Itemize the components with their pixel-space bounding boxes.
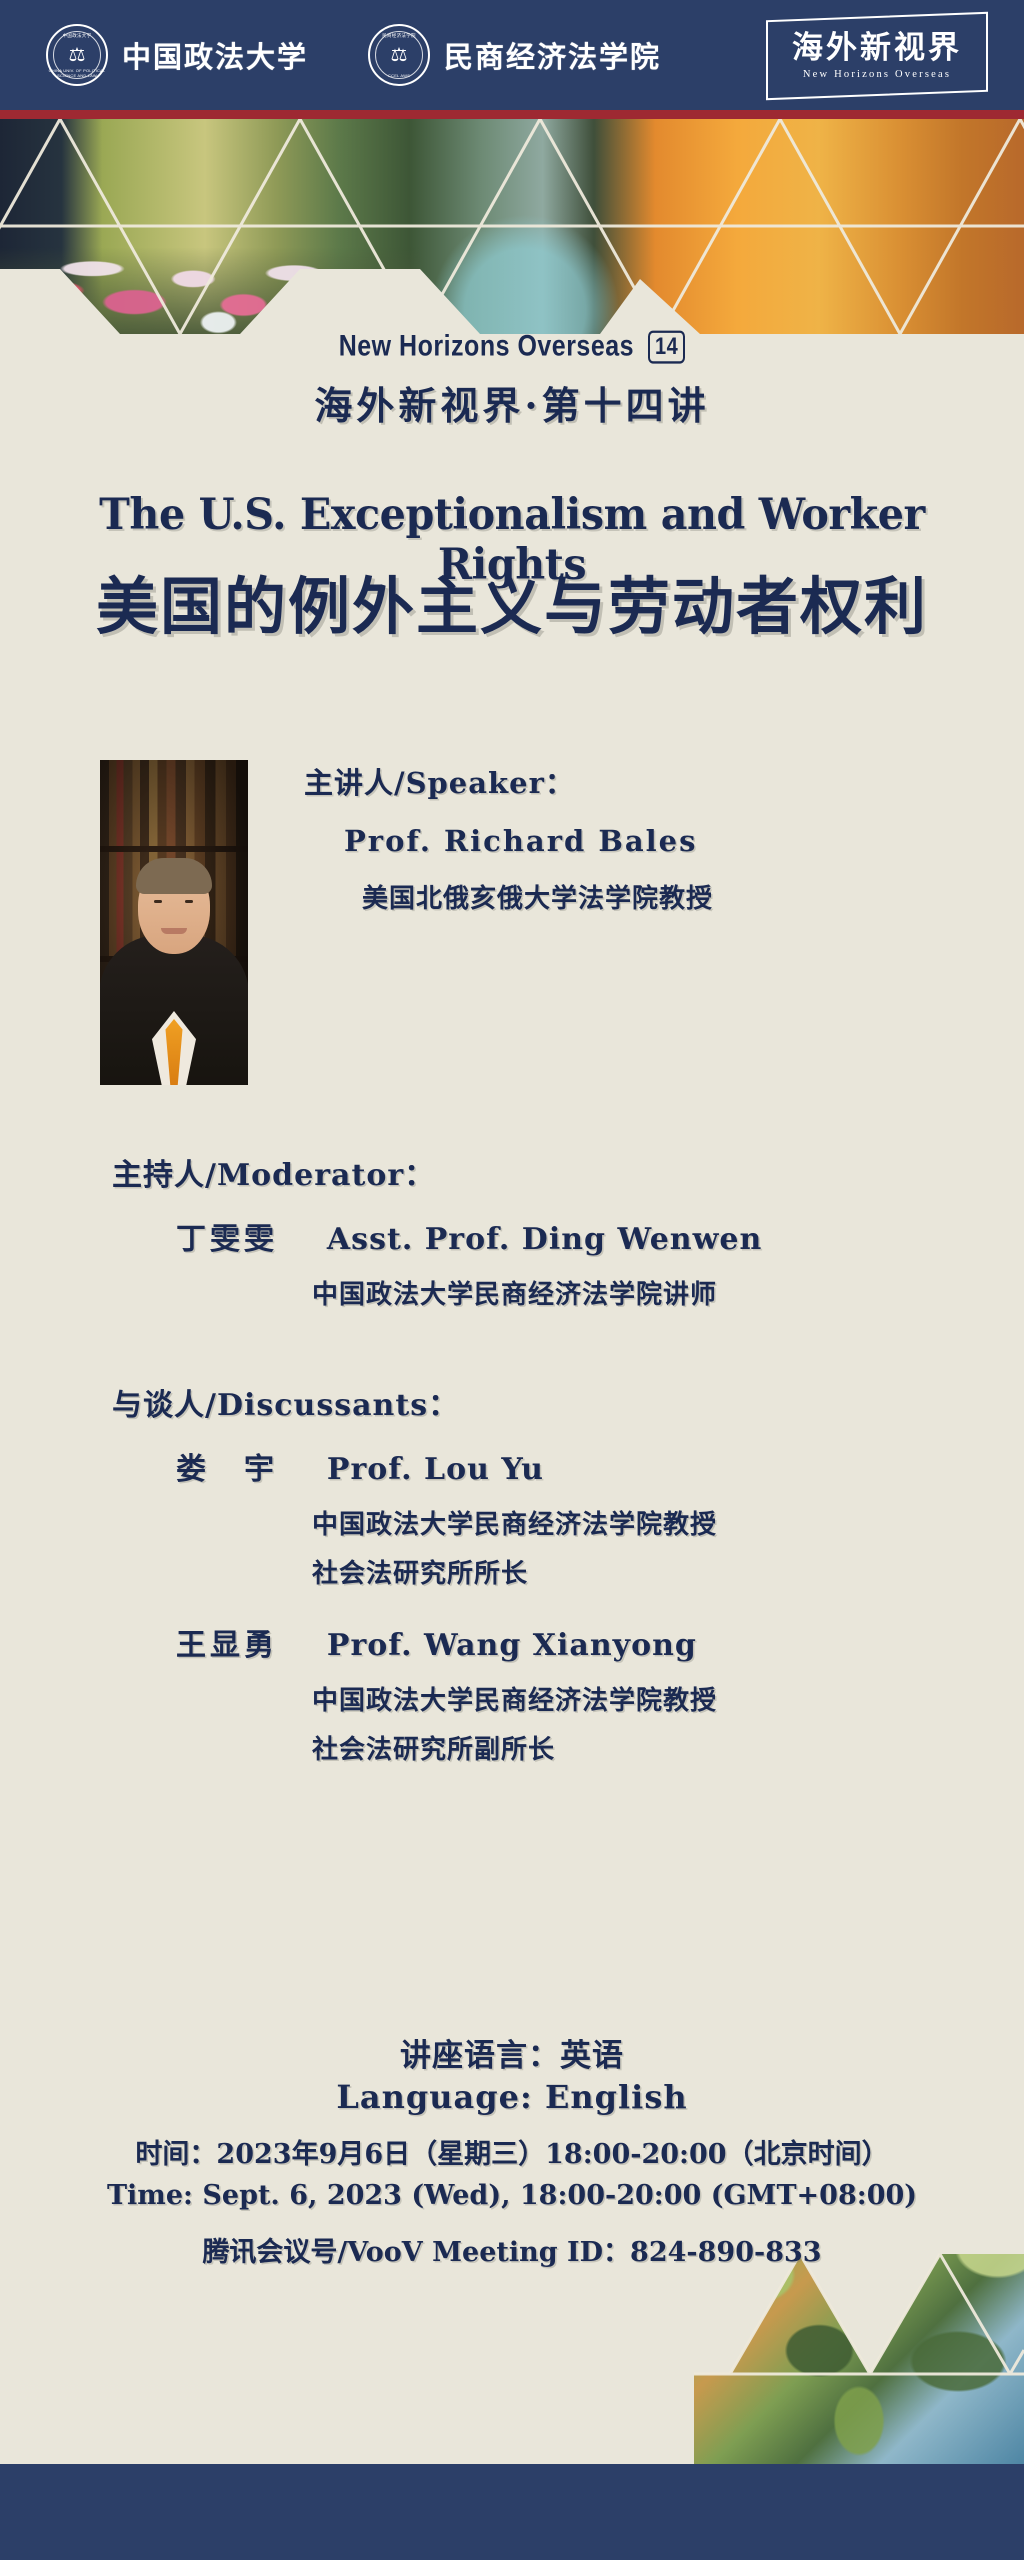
moderator-name-en: Asst. Prof. Ding Wenwen [327, 1222, 762, 1257]
speaker-photo [100, 760, 248, 1085]
discussant-2-name-en: Prof. Wang Xianyong [327, 1628, 697, 1663]
brand-name-en: New Horizons Overseas [792, 69, 962, 80]
footer-bar [0, 2464, 1024, 2560]
discussant-1-name-en: Prof. Lou Yu [327, 1452, 544, 1487]
cupl-seal-bottom-text: CHINA UNIV. OF POLITICAL SCIENCE AND LAW [48, 68, 106, 78]
discussant-1-name-row: 娄 宇 Prof. Lou Yu [0, 1444, 1024, 1488]
discussant-2-affiliation-1: 中国政法大学民商经济法学院教授 [0, 1680, 1024, 1717]
logo-ccelaws-label: 民商经济法学院 [444, 34, 661, 76]
moderator-section: 主持人/Moderator： 丁雯雯 Asst. Prof. Ding Wenw… [0, 1150, 1024, 1311]
series-heading-cn: 海外新视界·第十四讲 [0, 375, 1024, 430]
logo-ccelaws: 民商经济法学院 ⚖ CCEL AWS 民商经济法学院 [368, 24, 661, 86]
cupl-seal-icon: 中国政法大学 ⚖ CHINA UNIV. OF POLITICAL SCIENC… [46, 24, 108, 86]
poster-header: 中国政法大学 ⚖ CHINA UNIV. OF POLITICAL SCIENC… [0, 0, 1024, 110]
discussant-2-affiliation-2: 社会法研究所副所长 [0, 1729, 1024, 1766]
speaker-affiliation: 美国北俄亥俄大学法学院教授 [292, 878, 713, 915]
scales-icon: ⚖ [68, 46, 85, 65]
discussant-1-affiliation-2: 社会法研究所所长 [0, 1553, 1024, 1590]
discussant-entry-1: 娄 宇 Prof. Lou Yu 中国政法大学民商经济法学院教授 社会法研究所所… [0, 1444, 1024, 1590]
decorative-mosaic-top [0, 119, 1024, 334]
discussants-role-label: 与谈人/Discussants： [0, 1380, 1024, 1424]
header-crimson-rule [0, 110, 1024, 119]
discussants-section: 与谈人/Discussants： 娄 宇 Prof. Lou Yu 中国政法大学… [0, 1380, 1024, 1766]
discussant-2-name-cn: 王显勇 [176, 1628, 278, 1663]
moderator-name-row: 丁雯雯 Asst. Prof. Ding Wenwen [0, 1214, 1024, 1258]
speaker-mouth [161, 928, 187, 934]
speaker-eye-left [154, 900, 162, 903]
discussant-1-name-cn: 娄 宇 [176, 1452, 278, 1487]
shield-scales-icon: ⚖ [390, 46, 407, 65]
discussant-entry-2: 王显勇 Prof. Wang Xianyong 中国政法大学民商经济法学院教授 … [0, 1620, 1024, 1766]
brand-badge: 海外新视界 New Horizons Overseas [766, 12, 988, 101]
time-label-cn: 时间：2023年9月6日（星期三）18:00-20:00（北京时间） [0, 2132, 1024, 2171]
speaker-text-block: 主讲人/Speaker： Prof. Richard Bales 美国北俄亥俄大… [292, 760, 713, 915]
logo-cupl-label: 中国政法大学 [122, 34, 308, 76]
series-heading-en: New Horizons Overseas [339, 329, 634, 363]
speaker-name: Prof. Richard Bales [292, 824, 713, 858]
moderator-role-label: 主持人/Moderator： [0, 1150, 1024, 1194]
moderator-affiliation: 中国政法大学民商经济法学院讲师 [0, 1274, 1024, 1311]
time-label-en: Time: Sept. 6, 2023 (Wed), 18:00-20:00 (… [0, 2180, 1024, 2211]
ccelaws-seal-bottom-text: CCEL AWS [370, 73, 428, 78]
brand-name-cn: 海外新视界 [792, 32, 962, 65]
mosaic-top-triangle-grid [0, 119, 1024, 334]
moderator-name-cn: 丁雯雯 [176, 1222, 278, 1257]
language-label-cn: 讲座语言：英语 [0, 2030, 1024, 2075]
speaker-role-label: 主讲人/Speaker： [292, 760, 713, 802]
discussant-1-affiliation-1: 中国政法大学民商经济法学院教授 [0, 1504, 1024, 1541]
series-number-badge: 14 [648, 330, 685, 363]
discussant-2-name-row: 王显勇 Prof. Wang Xianyong [0, 1620, 1024, 1664]
series-heading-en-wrap: New Horizons Overseas 14 [339, 329, 686, 363]
language-label-en: Language: English [0, 2078, 1024, 2116]
cupl-seal-top-text: 中国政法大学 [48, 33, 106, 39]
speaker-section: 主讲人/Speaker： Prof. Richard Bales 美国北俄亥俄大… [0, 760, 1024, 1085]
poster-root: 中国政法大学 ⚖ CHINA UNIV. OF POLITICAL SCIENC… [0, 0, 1024, 2560]
series-heading: New Horizons Overseas 14 海外新视界·第十四讲 [0, 332, 1024, 430]
ccelaws-seal-top-text: 民商经济法学院 [370, 33, 428, 39]
speaker-hair [136, 858, 212, 894]
speaker-eye-right [185, 900, 193, 903]
ccelaws-seal-icon: 民商经济法学院 ⚖ CCEL AWS [368, 24, 430, 86]
logo-cupl: 中国政法大学 ⚖ CHINA UNIV. OF POLITICAL SCIENC… [46, 24, 308, 86]
lecture-title-cn: 美国的例外主义与劳动者权利 [0, 556, 1024, 646]
meeting-id-label: 腾讯会议号/VooV Meeting ID：824-890-833 [0, 2230, 1024, 2269]
